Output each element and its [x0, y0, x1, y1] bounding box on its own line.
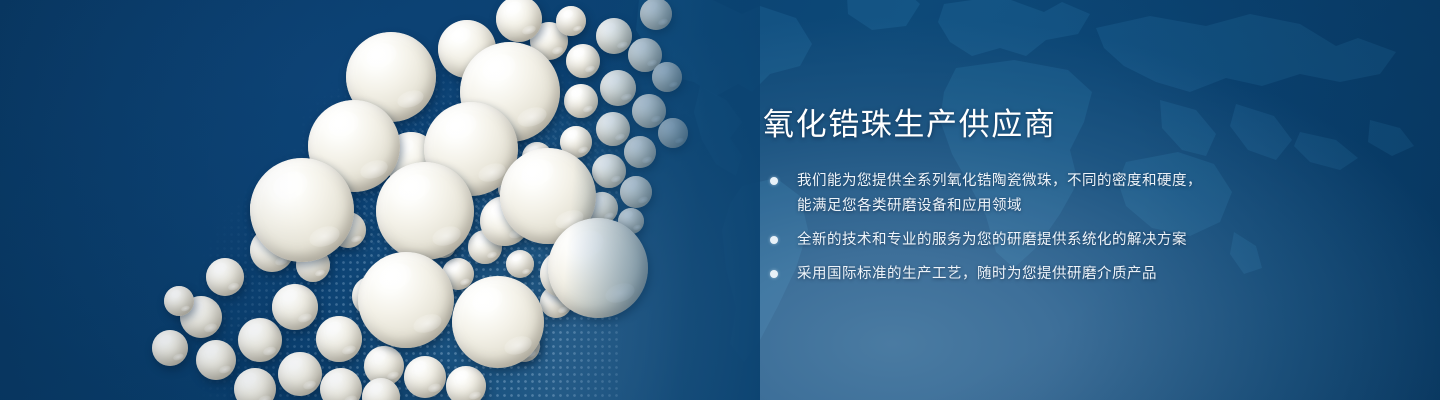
- hero-banner: 氧化锆珠生产供应商 我们能为您提供全系列氧化锆陶瓷微珠，不同的密度和硬度， 能满…: [0, 0, 1440, 400]
- list-item-text: 采用国际标准的生产工艺，随时为您提供研磨介质产品: [797, 262, 1157, 287]
- page-title: 氧化锆珠生产供应商: [763, 106, 1383, 143]
- list-item: 全新的技术和专业的服务为您的研磨提供系统化的解决方案: [763, 228, 1383, 253]
- list-item: 我们能为您提供全系列氧化锆陶瓷微珠，不同的密度和硬度， 能满足您各类研磨设备和应…: [763, 169, 1383, 219]
- list-item-line-1: 全新的技术和专业的服务为您的研磨提供系统化的解决方案: [797, 232, 1187, 248]
- bullet-dot-icon: [770, 236, 778, 244]
- bullet-dot-icon: [770, 270, 778, 278]
- bullet-dot-icon: [770, 177, 778, 185]
- zirconia-beads-image: [0, 0, 760, 400]
- list-item: 采用国际标准的生产工艺，随时为您提供研磨介质产品: [763, 262, 1383, 287]
- list-item-line-2: 能满足您各类研磨设备和应用领域: [797, 194, 1202, 219]
- feature-list: 我们能为您提供全系列氧化锆陶瓷微珠，不同的密度和硬度， 能满足您各类研磨设备和应…: [763, 169, 1383, 287]
- list-item-line-1: 采用国际标准的生产工艺，随时为您提供研磨介质产品: [797, 266, 1157, 282]
- list-item-text: 全新的技术和专业的服务为您的研磨提供系统化的解决方案: [797, 228, 1187, 253]
- banner-content: 氧化锆珠生产供应商 我们能为您提供全系列氧化锆陶瓷微珠，不同的密度和硬度， 能满…: [763, 106, 1383, 296]
- list-item-text: 我们能为您提供全系列氧化锆陶瓷微珠，不同的密度和硬度， 能满足您各类研磨设备和应…: [797, 169, 1202, 219]
- list-item-line-1: 我们能为您提供全系列氧化锆陶瓷微珠，不同的密度和硬度，: [797, 173, 1202, 189]
